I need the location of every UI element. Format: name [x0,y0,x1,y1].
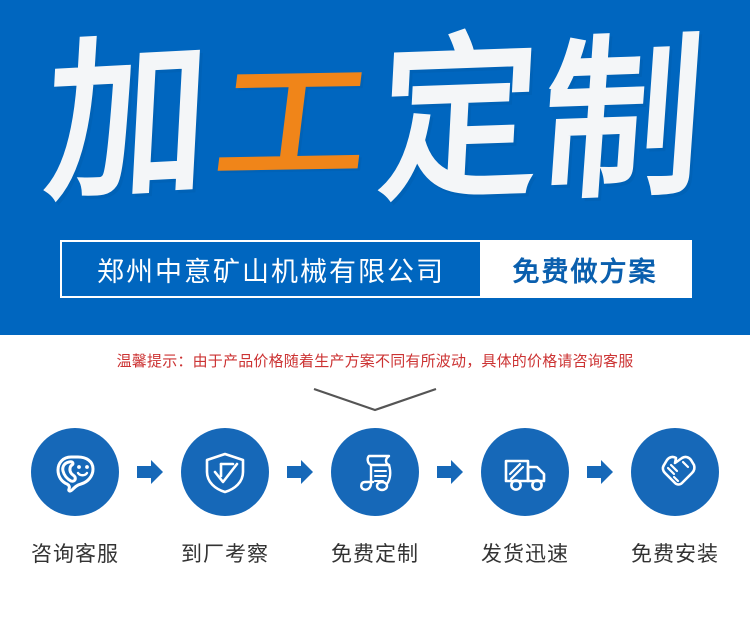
step-label-1: 咨询客服 [31,538,119,568]
headline-calligraphy: 加 工 定 制 [0,18,750,223]
step-circle-5 [631,428,719,516]
shield-check-icon [199,446,251,498]
company-name-band: 郑州中意矿山机械有限公司 免费做方案 [60,240,692,298]
delivery-truck-icon [499,446,551,498]
hero-banner: 加 工 定 制 郑州中意矿山机械有限公司 免费做方案 [0,0,750,335]
step-arrow-1 [134,428,166,516]
step-label-5: 免费安装 [631,538,719,568]
step-circle-4 [481,428,569,516]
headline-char-4: 制 [535,31,712,210]
arrow-right-icon [435,458,465,486]
step-circle-3 [331,428,419,516]
arrow-right-icon [135,458,165,486]
service-steps-row: 咨询客服 到厂考察 [0,428,750,568]
chevron-down-wrap [0,385,750,415]
step-item-3[interactable]: 免费定制 [316,428,434,568]
chevron-down-icon [310,385,440,415]
step-label-2: 到厂考察 [181,538,269,568]
promo-banner-page: 加 工 定 制 郑州中意矿山机械有限公司 免费做方案 温馨提示：由于产品价格随着… [0,0,750,620]
step-circle-2 [181,428,269,516]
price-notice-text: 温馨提示：由于产品价格随着生产方案不同有所波动，具体的价格请咨询客服 [0,350,750,371]
step-item-2[interactable]: 到厂考察 [166,428,284,568]
step-arrow-4 [584,428,616,516]
free-plan-badge[interactable]: 免费做方案 [480,242,690,296]
handshake-icon [649,446,701,498]
arrow-right-icon [585,458,615,486]
scroll-document-icon [349,446,401,498]
step-label-4: 发货迅速 [481,538,569,568]
headline-char-1: 加 [38,29,215,211]
arrow-right-icon [285,458,315,486]
headline-char-2: 工 [207,59,379,188]
step-item-1[interactable]: 咨询客服 [16,428,134,568]
phone-smiley-icon [49,446,101,498]
step-arrow-2 [284,428,316,516]
step-item-4[interactable]: 发货迅速 [466,428,584,568]
headline-char-3: 定 [372,29,546,212]
company-name: 郑州中意矿山机械有限公司 [62,242,480,296]
step-circle-1 [31,428,119,516]
step-arrow-3 [434,428,466,516]
step-label-3: 免费定制 [331,538,419,568]
step-item-5[interactable]: 免费安装 [616,428,734,568]
